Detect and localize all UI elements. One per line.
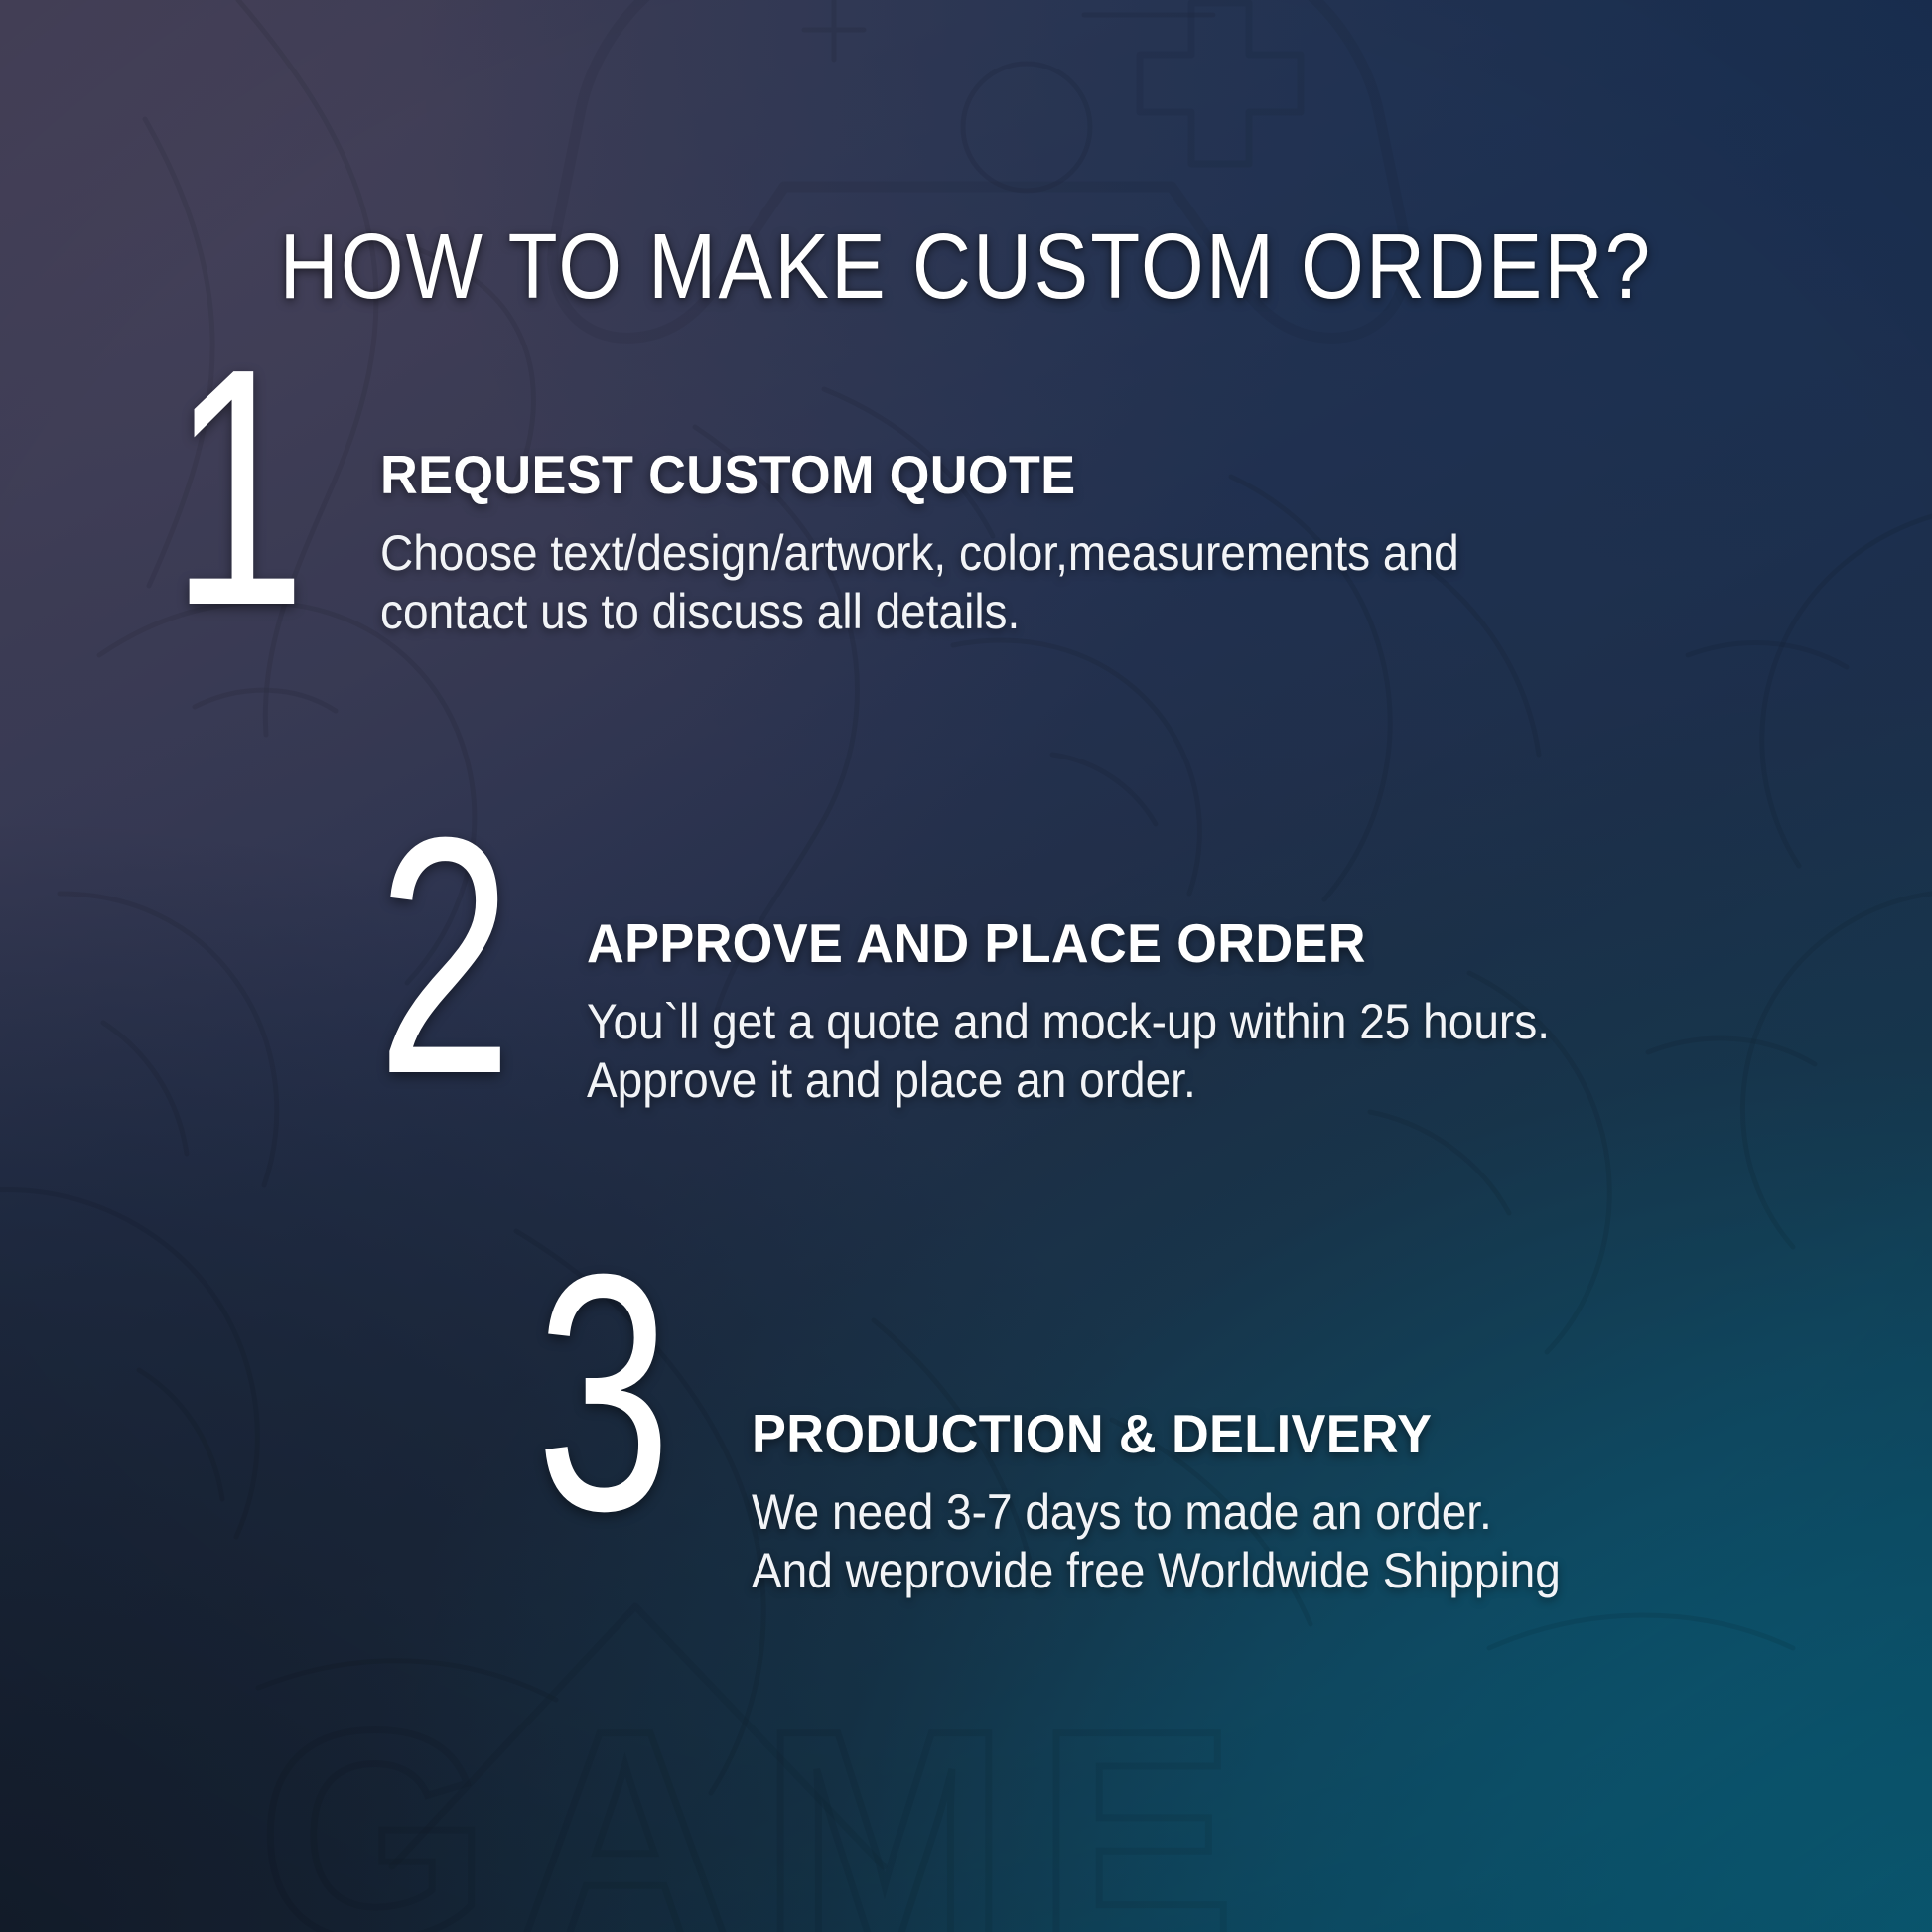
step-number-2: 2 — [377, 838, 512, 1074]
step-title-3: PRODUCTION & DELIVERY — [752, 1406, 1587, 1463]
step-description-2: You`ll get a quote and mock-up within 25… — [587, 993, 1550, 1110]
step-body-1: REQUEST CUSTOM QUOTE Choose text/design/… — [380, 415, 1553, 641]
step-description-1: Choose text/design/artwork, color,measur… — [380, 524, 1459, 641]
step-number-1: 1 — [171, 369, 306, 606]
step-body-2: APPROVE AND PLACE ORDER You`ll get a quo… — [587, 884, 1633, 1110]
step-item-2: 2 APPROVE AND PLACE ORDER You`ll get a q… — [377, 884, 1633, 1110]
step-description-2-line-2: Approve it and place an order. — [587, 1051, 1550, 1110]
step-title-1: REQUEST CUSTOM QUOTE — [380, 447, 1494, 504]
step-body-3: PRODUCTION & DELIVERY We need 3-7 days t… — [752, 1320, 1631, 1600]
step-item-3: 3 PRODUCTION & DELIVERY We need 3-7 days… — [536, 1320, 1631, 1600]
step-number-3: 3 — [536, 1275, 671, 1511]
step-description-2-line-1: You`ll get a quote and mock-up within 25… — [587, 993, 1550, 1051]
step-item-1: 1 REQUEST CUSTOM QUOTE Choose text/desig… — [171, 415, 1553, 641]
page-title: HOW TO MAKE CUSTOM ORDER? — [116, 220, 1816, 313]
step-description-1-line-2: contact us to discuss all details. — [380, 583, 1459, 641]
poster-canvas: .ln { fill:none; stroke:#000000; stroke-… — [0, 0, 1932, 1932]
step-description-3: We need 3-7 days to made an order. And w… — [752, 1483, 1561, 1600]
step-description-1-line-1: Choose text/design/artwork, color,measur… — [380, 524, 1459, 583]
step-description-3-line-1: We need 3-7 days to made an order. — [752, 1483, 1561, 1542]
step-title-2: APPROVE AND PLACE ORDER — [587, 915, 1582, 973]
step-description-3-line-2: And weprovide free Worldwide Shipping — [752, 1542, 1561, 1600]
